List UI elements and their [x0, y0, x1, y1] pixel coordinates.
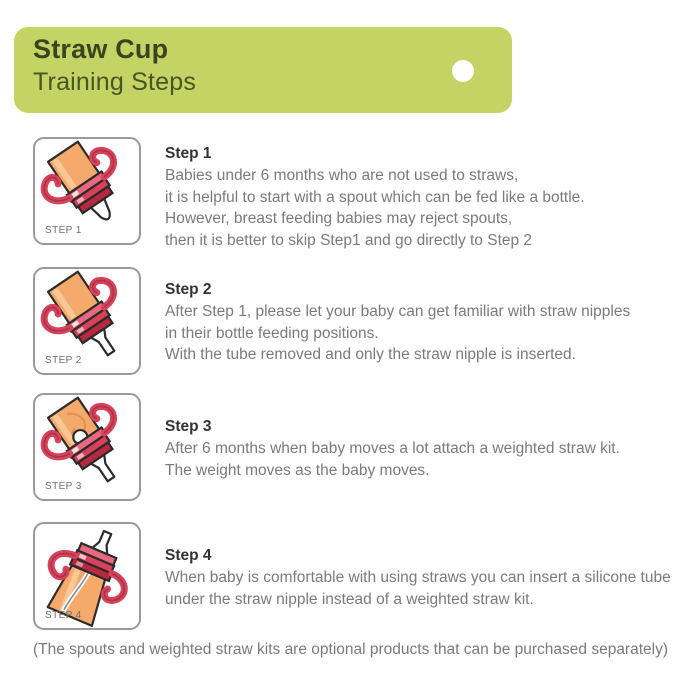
- step-3-line-2: The weight moves as the baby moves.: [165, 460, 670, 482]
- step-2-thumbnail-label: STEP 2: [45, 355, 82, 366]
- step-2-thumbnail[interactable]: STEP 2: [33, 267, 141, 375]
- step-1-heading: Step 1: [165, 143, 670, 164]
- step-3-heading: Step 3: [165, 416, 670, 437]
- step-1-thumbnail[interactable]: STEP 1: [33, 137, 141, 245]
- step-2-line-1: After Step 1, please let your baby can g…: [165, 301, 670, 323]
- step-4-heading: Step 4: [165, 545, 670, 566]
- step-3-line-1: After 6 months when baby moves a lot att…: [165, 438, 670, 460]
- step-3-text-block: Step 3 After 6 months when baby moves a …: [165, 416, 670, 481]
- step-2-text-block: Step 2 After Step 1, please let your bab…: [165, 279, 670, 366]
- header-banner: Straw Cup Training Steps: [14, 27, 512, 113]
- step-2-line-2: in their bottle feeding positions.: [165, 323, 670, 345]
- step-3-thumbnail[interactable]: STEP 3: [33, 393, 141, 501]
- step-2-line-3: With the tube removed and only the straw…: [165, 344, 670, 366]
- step-2-heading: Step 2: [165, 279, 670, 300]
- step-3-thumbnail-label: STEP 3: [45, 481, 82, 492]
- step-4-text-block: Step 4 When baby is comfortable with usi…: [165, 545, 670, 610]
- step-1-line-3: However, breast feeding babies may rejec…: [165, 208, 670, 230]
- page-subtitle: Training Steps: [33, 68, 196, 97]
- step-4-thumbnail[interactable]: STEP 4: [33, 522, 141, 630]
- footer-note: (The spouts and weighted straw kits are …: [33, 641, 668, 659]
- step-1-thumbnail-label: STEP 1: [45, 225, 82, 236]
- step-1-line-1: Babies under 6 months who are not used t…: [165, 165, 670, 187]
- step-1-line-4: then it is better to skip Step1 and go d…: [165, 230, 670, 252]
- page-title: Straw Cup: [33, 34, 168, 65]
- step-1-text-block: Step 1 Babies under 6 months who are not…: [165, 143, 670, 251]
- step-4-line-2: under the straw nipple instead of a weig…: [165, 589, 670, 611]
- step-4-line-1: When baby is comfortable with using stra…: [165, 567, 670, 589]
- punch-hole-icon: [452, 60, 474, 82]
- step-4-thumbnail-label: STEP 4: [45, 610, 82, 621]
- step-1-line-2: it is helpful to start with a spout whic…: [165, 187, 670, 209]
